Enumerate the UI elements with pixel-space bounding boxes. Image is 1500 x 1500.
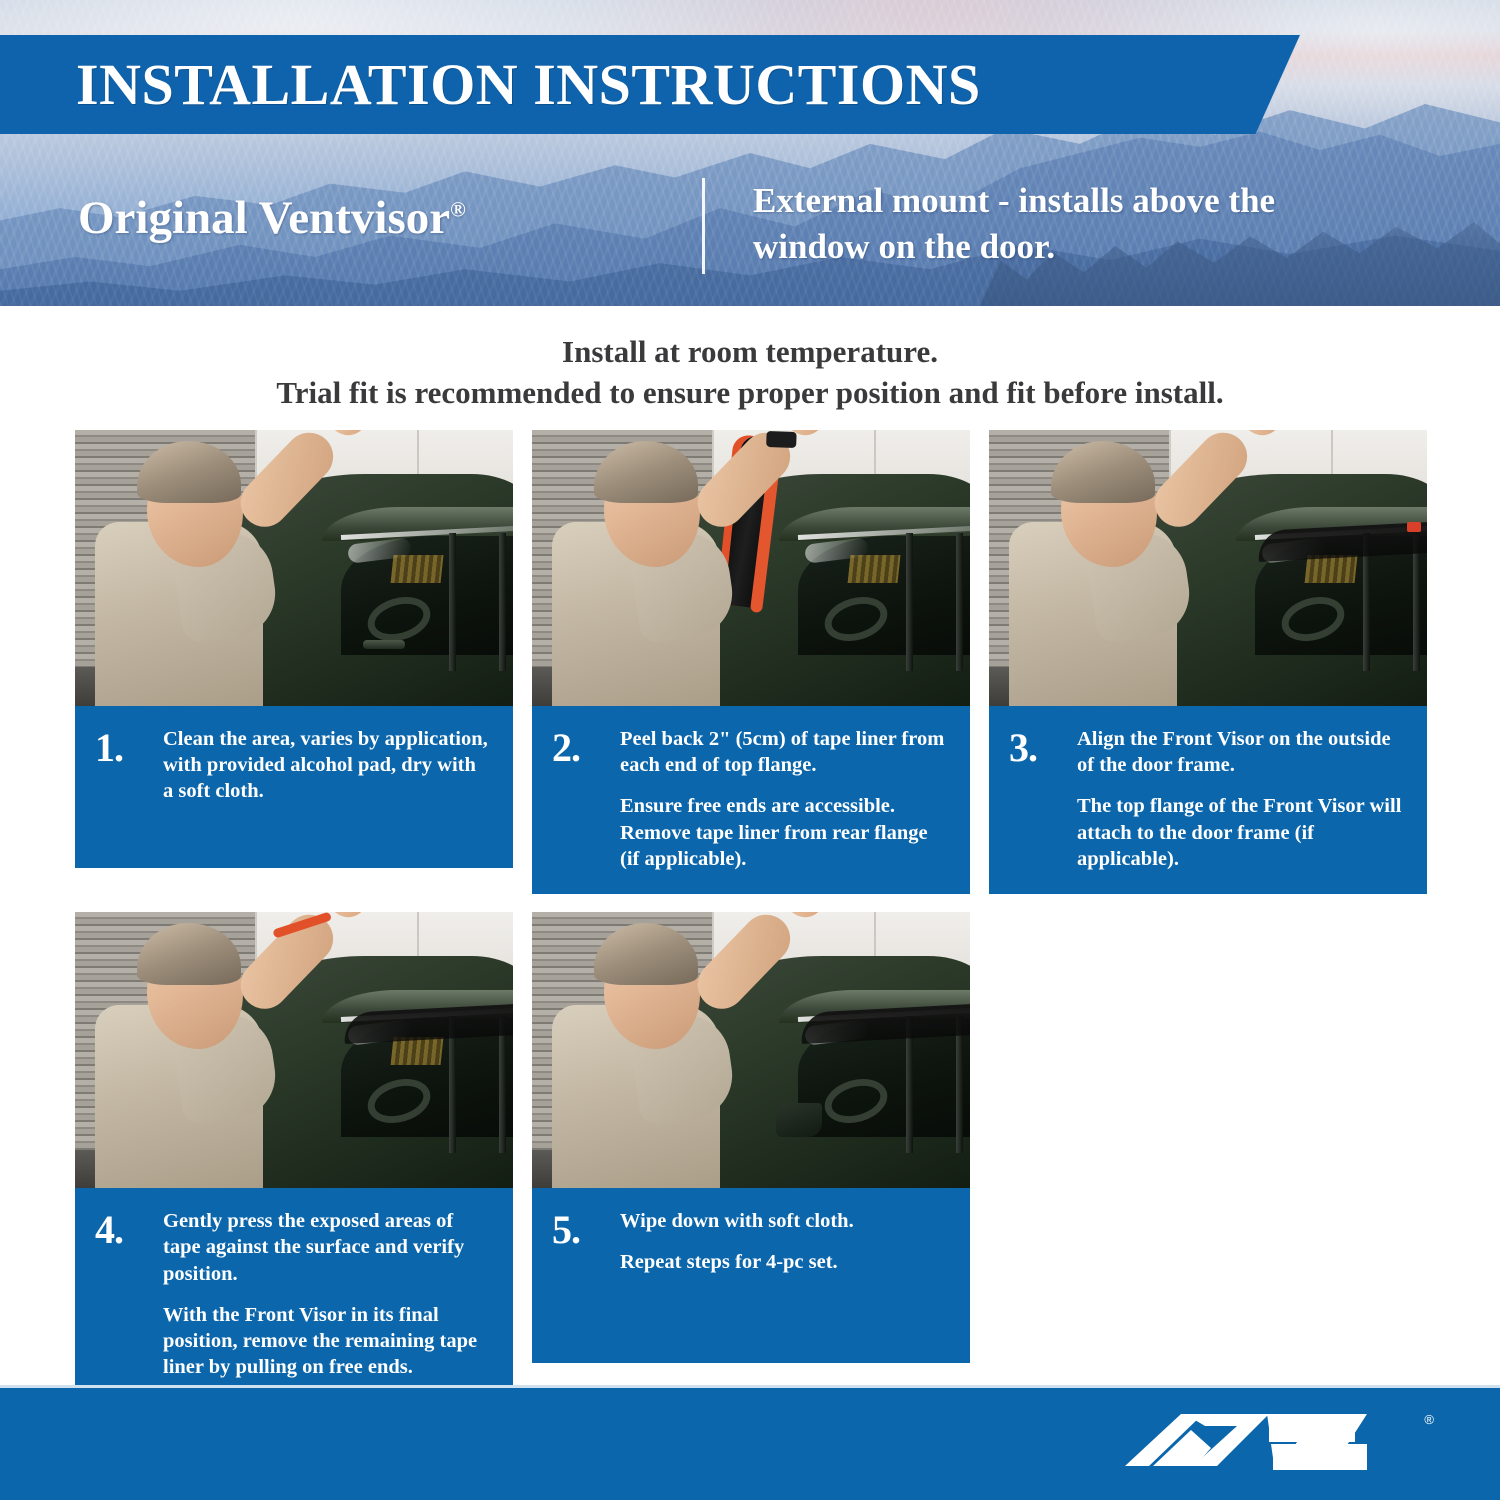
brand-name-text: Original Ventvisor bbox=[78, 192, 450, 244]
step-caption: 4. Gently press the exposed areas of tap… bbox=[75, 1188, 513, 1402]
step-text: Align the Front Visor on the outside of … bbox=[1077, 726, 1403, 872]
brand-name: Original Ventvisor® bbox=[78, 178, 702, 245]
step-number: 4. bbox=[95, 1208, 149, 1249]
installer-person bbox=[550, 926, 760, 1188]
step-paragraph: Clean the area, varies by application, w… bbox=[163, 726, 489, 805]
c-pillar bbox=[499, 533, 506, 671]
b-pillar bbox=[449, 533, 456, 671]
step-caption: 3. Align the Front Visor on the outside … bbox=[989, 706, 1427, 894]
step-card: 4. Gently press the exposed areas of tap… bbox=[75, 912, 513, 1402]
step-card: 2. Peel back 2" (5cm) of tape liner from… bbox=[532, 430, 970, 894]
step-paragraph: Ensure free ends are accessible. Remove … bbox=[620, 793, 946, 872]
step-number: 3. bbox=[1009, 726, 1063, 767]
c-pillar bbox=[1413, 533, 1420, 671]
hero-banner: INSTALLATION INSTRUCTIONS Original Ventv… bbox=[0, 0, 1500, 306]
step-caption: 2. Peel back 2" (5cm) of tape liner from… bbox=[532, 706, 970, 894]
installer-person bbox=[93, 444, 303, 706]
mount-note: External mount - installs above the wind… bbox=[753, 178, 1363, 270]
step-paragraph: Repeat steps for 4-pc set. bbox=[620, 1249, 946, 1275]
wristwatch bbox=[766, 431, 797, 448]
steps-grid: 1. Clean the area, varies by application… bbox=[75, 430, 1427, 1403]
interior-reflection bbox=[847, 555, 900, 583]
step-number: 2. bbox=[552, 726, 606, 767]
registered-trademark-icon: ® bbox=[1424, 1412, 1434, 1427]
step-card: 1. Clean the area, varies by application… bbox=[75, 430, 513, 894]
interior-reflection bbox=[390, 555, 443, 583]
instruction-sheet: INSTALLATION INSTRUCTIONS Original Ventv… bbox=[0, 0, 1500, 1500]
step-paragraph: Align the Front Visor on the outside of … bbox=[1077, 726, 1403, 778]
c-pillar bbox=[956, 1016, 963, 1154]
step-number: 5. bbox=[552, 1208, 606, 1249]
step-paragraph: The top flange of the Front Visor will a… bbox=[1077, 793, 1403, 872]
step-caption: 1. Clean the area, varies by application… bbox=[75, 706, 513, 868]
hair bbox=[137, 441, 241, 503]
step-card: 5. Wipe down with soft cloth. Repeat ste… bbox=[532, 912, 970, 1402]
intro-text: Install at room temperature. Trial fit i… bbox=[0, 332, 1500, 414]
step-photo bbox=[532, 912, 970, 1188]
step-text: Peel back 2" (5cm) of tape liner from ea… bbox=[620, 726, 946, 872]
hero-subtitle-row: Original Ventvisor® External mount - ins… bbox=[78, 178, 1418, 274]
c-pillar bbox=[956, 533, 963, 671]
hair bbox=[594, 923, 698, 985]
hair bbox=[1051, 441, 1155, 503]
registered-trademark-icon: ® bbox=[450, 197, 466, 221]
hair bbox=[594, 441, 698, 503]
c-pillar bbox=[499, 1016, 506, 1154]
step-photo bbox=[75, 912, 513, 1188]
title-banner: INSTALLATION INSTRUCTIONS bbox=[0, 35, 1300, 134]
step-caption: 5. Wipe down with soft cloth. Repeat ste… bbox=[532, 1188, 970, 1363]
step-paragraph: With the Front Visor in its final positi… bbox=[163, 1302, 489, 1381]
avs-logo-icon bbox=[1119, 1408, 1419, 1480]
red-tape-tab bbox=[1407, 522, 1421, 532]
page-title: INSTALLATION INSTRUCTIONS bbox=[76, 56, 981, 114]
b-pillar bbox=[906, 533, 913, 671]
footer-bar: ® bbox=[0, 1385, 1500, 1500]
step-text: Wipe down with soft cloth. Repeat steps … bbox=[620, 1208, 946, 1275]
interior-reflection bbox=[1304, 555, 1357, 583]
vertical-divider bbox=[702, 178, 705, 274]
side-mirror bbox=[776, 1103, 822, 1137]
hair bbox=[137, 923, 241, 985]
step-number: 1. bbox=[95, 726, 149, 767]
step-text: Clean the area, varies by application, w… bbox=[163, 726, 489, 805]
installer-person bbox=[1007, 444, 1217, 706]
interior-reflection bbox=[390, 1037, 443, 1065]
step-paragraph: Gently press the exposed areas of tape a… bbox=[163, 1208, 489, 1287]
step-photo bbox=[989, 430, 1427, 706]
step-text: Gently press the exposed areas of tape a… bbox=[163, 1208, 489, 1380]
installer-person bbox=[93, 926, 303, 1188]
intro-line-1: Install at room temperature. bbox=[0, 332, 1500, 373]
step-card: 3. Align the Front Visor on the outside … bbox=[989, 430, 1427, 894]
step-photo bbox=[532, 430, 970, 706]
step-paragraph: Wipe down with soft cloth. bbox=[620, 1208, 946, 1234]
intro-line-2: Trial fit is recommended to ensure prope… bbox=[0, 373, 1500, 414]
avs-logo: ® bbox=[1119, 1408, 1434, 1480]
step-paragraph: Peel back 2" (5cm) of tape liner from ea… bbox=[620, 726, 946, 778]
installer-person bbox=[550, 444, 760, 706]
door-handle bbox=[363, 640, 405, 649]
step-photo bbox=[75, 430, 513, 706]
